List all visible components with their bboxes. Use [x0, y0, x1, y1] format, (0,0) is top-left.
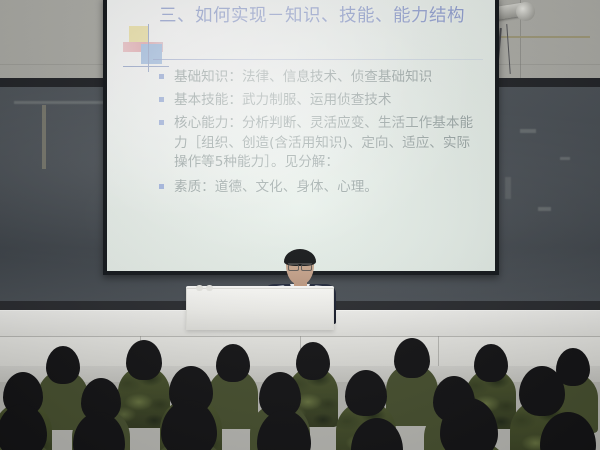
chalk-smudge	[538, 207, 551, 211]
bullet-marker-icon	[159, 74, 164, 79]
slide-decorative-motif	[123, 24, 175, 72]
audience-area	[0, 300, 600, 450]
bullet-marker-icon	[159, 97, 164, 102]
list-item	[150, 400, 228, 450]
chalk-smudge	[560, 157, 570, 160]
audience-head	[519, 366, 565, 416]
bullet-text: 素质：道德、文化、身体、心理。	[174, 179, 378, 195]
list-item: 核心能力：分析判断、灵活应变、生活工作基本能力［组织、创造(含活用知识)、定向、…	[157, 114, 479, 174]
audience-head	[126, 340, 162, 380]
audience-head	[161, 400, 217, 450]
lecture-hall-photo: 三、如何实现－知识、技能、能力结构 基础知识：法律、信息技术、侦查基础知识 基本…	[0, 0, 600, 450]
bullet-marker-icon	[159, 120, 164, 125]
chalk-smudge	[505, 177, 511, 199]
audience-head	[394, 338, 430, 378]
slide-title: 三、如何实现－知识、技能、能力结构	[159, 4, 479, 29]
bullet-text: 基本技能：武力制服、运用侦查技术	[174, 92, 392, 108]
list-item	[62, 412, 136, 450]
bullet-text: 基础知识：法律、信息技术、侦查基础知识	[174, 69, 432, 85]
slide-bullet-list: 基础知识：法律、信息技术、侦查基础知识 基本技能：武力制服、运用侦查技术 核心能…	[157, 68, 479, 201]
chalk-smudge	[520, 129, 536, 133]
motif-horizontal-line	[123, 66, 169, 67]
audience-head	[345, 370, 387, 416]
audience-head	[540, 412, 596, 450]
motif-yellow-square	[129, 26, 148, 42]
list-item	[528, 412, 600, 450]
motif-vertical-line	[148, 24, 149, 72]
projection-screen-frame: 三、如何实现－知识、技能、能力结构 基础知识：法律、信息技术、侦查基础知识 基本…	[103, 0, 499, 275]
bullet-marker-icon	[159, 184, 164, 189]
list-item: 基本技能：武力制服、运用侦查技术	[157, 91, 479, 111]
audience-head	[257, 410, 311, 450]
audience-head	[351, 418, 403, 450]
list-item	[0, 404, 58, 450]
list-item	[246, 410, 322, 450]
list-item: 基础知识：法律、信息技术、侦查基础知识	[157, 68, 479, 88]
projector-lens	[516, 2, 535, 21]
audience-head	[0, 404, 47, 450]
audience-head	[440, 398, 498, 450]
motif-blue-square	[141, 44, 162, 64]
list-item: 素质：道德、文化、身体、心理。	[157, 178, 479, 198]
presentation-slide: 三、如何实现－知识、技能、能力结构 基础知识：法律、信息技术、侦查基础知识 基本…	[107, 0, 495, 271]
slide-title-rule	[153, 59, 483, 60]
glasses-icon	[288, 263, 312, 269]
lectern-knob	[196, 285, 203, 291]
list-item	[428, 398, 510, 450]
audience-head	[73, 412, 125, 450]
list-item	[340, 418, 414, 450]
chalk-smudge	[42, 105, 46, 169]
projection-screen: 三、如何实现－知识、技能、能力结构 基础知识：法律、信息技术、侦查基础知识 基本…	[107, 0, 495, 271]
bullet-text: 核心能力：分析判断、灵活应变、生活工作基本能力［组织、创造(含活用知识)、定向、…	[174, 115, 473, 171]
lectern-knob	[206, 285, 213, 291]
